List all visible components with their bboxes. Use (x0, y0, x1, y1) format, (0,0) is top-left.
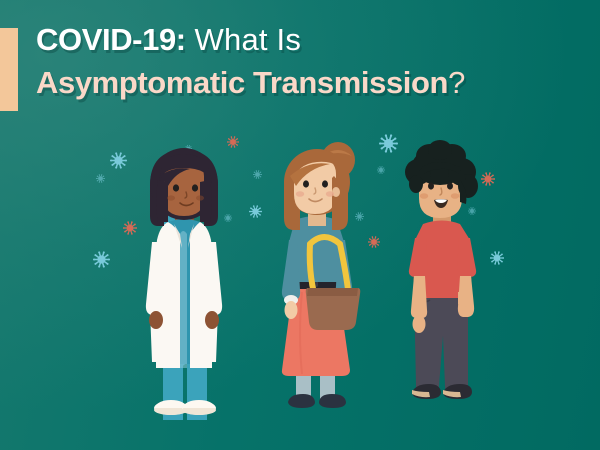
virus-particle-icon (96, 174, 105, 183)
figure-woman-with-handbag (262, 136, 372, 424)
figure-man-in-red-tshirt (390, 140, 494, 424)
virus-particle-icon (249, 205, 262, 218)
headline-line-2: Asymptomatic Transmission? (36, 65, 596, 101)
headline-covid19-label: COVID-19: (36, 22, 186, 57)
figure-healthcare-worker (130, 142, 238, 420)
virus-particle-icon (110, 152, 127, 169)
headline-line-1: COVID-19: What Is (36, 22, 596, 58)
headline-whatis-label: What Is (195, 22, 301, 57)
page-title: COVID-19: What Is Asymptomatic Transmiss… (36, 22, 596, 101)
headline-asymptomatic-transmission-label: Asymptomatic Transmission (36, 65, 448, 100)
banner-canvas: COVID-19: What Is Asymptomatic Transmiss… (0, 0, 600, 450)
accent-bar (0, 28, 18, 111)
virus-particle-icon (377, 166, 385, 174)
headline-question-mark: ? (448, 65, 465, 100)
virus-particle-icon (253, 170, 262, 179)
virus-particle-icon (93, 251, 110, 268)
